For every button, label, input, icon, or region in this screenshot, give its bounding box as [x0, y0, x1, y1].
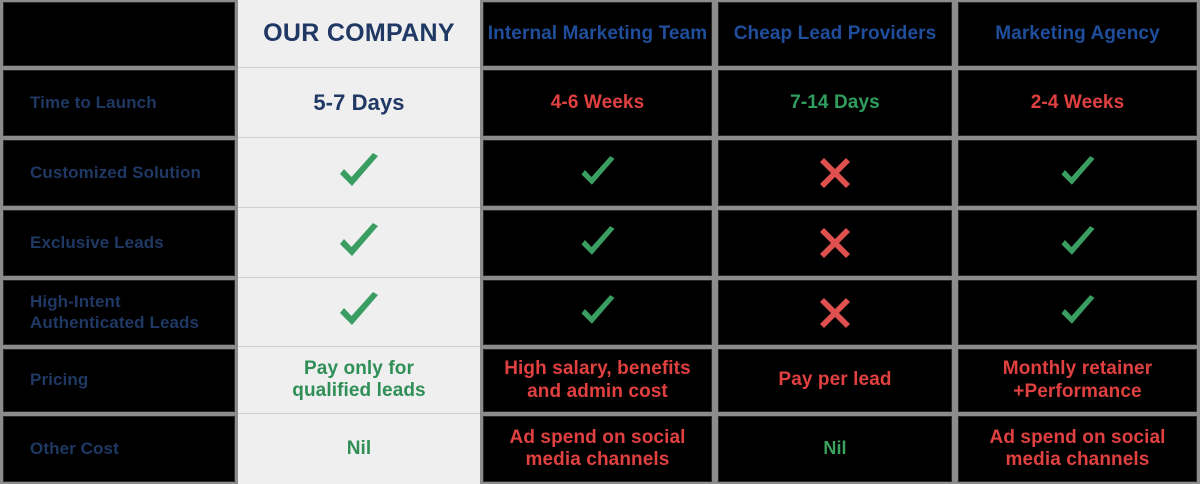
check-icon: [578, 156, 618, 191]
row-label: Time to Launch: [30, 93, 157, 113]
row-label: High-Intent Authenticated Leads: [30, 292, 220, 332]
check-icon: [578, 295, 618, 330]
check-icon: [1058, 156, 1098, 191]
cell-agency: [958, 280, 1197, 345]
cell-cheap-leads: [718, 140, 952, 206]
cell-cheap-leads: Pay per lead: [718, 349, 952, 412]
cell-cheap-leads: Nil: [718, 416, 952, 482]
cell-internal-team: 4-6 Weeks: [483, 70, 712, 136]
cell-internal-team: Ad spend on social media channels: [483, 416, 712, 482]
table-corner-cell: [3, 2, 235, 66]
cell-value: 4-6 Weeks: [551, 92, 645, 114]
cell-our-company: [238, 208, 480, 278]
check-icon: [1058, 226, 1098, 261]
cell-internal-team: [483, 140, 712, 206]
table-row: Exclusive Leads: [3, 210, 235, 276]
cell-our-company: 5-7 Days: [238, 68, 480, 138]
cell-value: 2-4 Weeks: [1031, 92, 1125, 114]
cell-cheap-leads: [718, 280, 952, 345]
cell-value: Ad spend on social media channels: [490, 427, 705, 472]
cell-value: Pay only for qualified leads: [267, 358, 452, 403]
cell-agency: [958, 140, 1197, 206]
cross-icon: [819, 157, 851, 189]
row-label: Other Cost: [30, 439, 119, 459]
row-label: Customized Solution: [30, 163, 201, 183]
cell-value: Nil: [823, 438, 846, 459]
column-header-label: OUR COMPANY: [263, 19, 455, 49]
check-icon: [336, 223, 382, 263]
cell-value: 5-7 Days: [313, 90, 404, 116]
comparison-table: OUR COMPANY Internal Marketing Team Chea…: [0, 0, 1200, 484]
cell-internal-team: High salary, benefits and admin cost: [483, 349, 712, 412]
column-header-internal-team: Internal Marketing Team: [483, 2, 712, 66]
cell-internal-team: [483, 210, 712, 276]
column-header-our-company: OUR COMPANY: [238, 0, 480, 68]
check-icon: [336, 292, 382, 332]
cell-agency: [958, 210, 1197, 276]
cell-internal-team: [483, 280, 712, 345]
cell-value: Nil: [347, 438, 372, 460]
cell-value: Monthly retainer +Performance: [973, 358, 1183, 403]
cell-our-company: Pay only for qualified leads: [238, 347, 480, 414]
check-icon: [578, 226, 618, 261]
column-header-label: Cheap Lead Providers: [734, 23, 937, 45]
cell-our-company: [238, 138, 480, 208]
table-row: Other Cost: [3, 416, 235, 482]
column-header-label: Internal Marketing Team: [488, 23, 707, 45]
table-row: Customized Solution: [3, 140, 235, 206]
cell-value: Ad spend on social media channels: [970, 427, 1185, 472]
cross-icon: [819, 297, 851, 329]
check-icon: [336, 153, 382, 193]
table-row: Time to Launch: [3, 70, 235, 136]
cell-our-company: [238, 278, 480, 347]
table-row: High-Intent Authenticated Leads: [3, 280, 235, 345]
cell-agency: 2-4 Weeks: [958, 70, 1197, 136]
row-label: Pricing: [30, 370, 88, 390]
column-header-agency: Marketing Agency: [958, 2, 1197, 66]
cell-cheap-leads: 7-14 Days: [718, 70, 952, 136]
cell-value: High salary, benefits and admin cost: [490, 358, 705, 403]
row-label: Exclusive Leads: [30, 233, 164, 253]
table-row: Pricing: [3, 349, 235, 412]
cell-cheap-leads: [718, 210, 952, 276]
cell-agency: Monthly retainer +Performance: [958, 349, 1197, 412]
cell-value: Pay per lead: [778, 369, 891, 391]
column-header-cheap-leads: Cheap Lead Providers: [718, 2, 952, 66]
cell-our-company: Nil: [238, 414, 480, 484]
check-icon: [1058, 295, 1098, 330]
cell-value: 7-14 Days: [790, 92, 880, 114]
cross-icon: [819, 227, 851, 259]
column-header-label: Marketing Agency: [995, 23, 1160, 45]
cell-agency: Ad spend on social media channels: [958, 416, 1197, 482]
